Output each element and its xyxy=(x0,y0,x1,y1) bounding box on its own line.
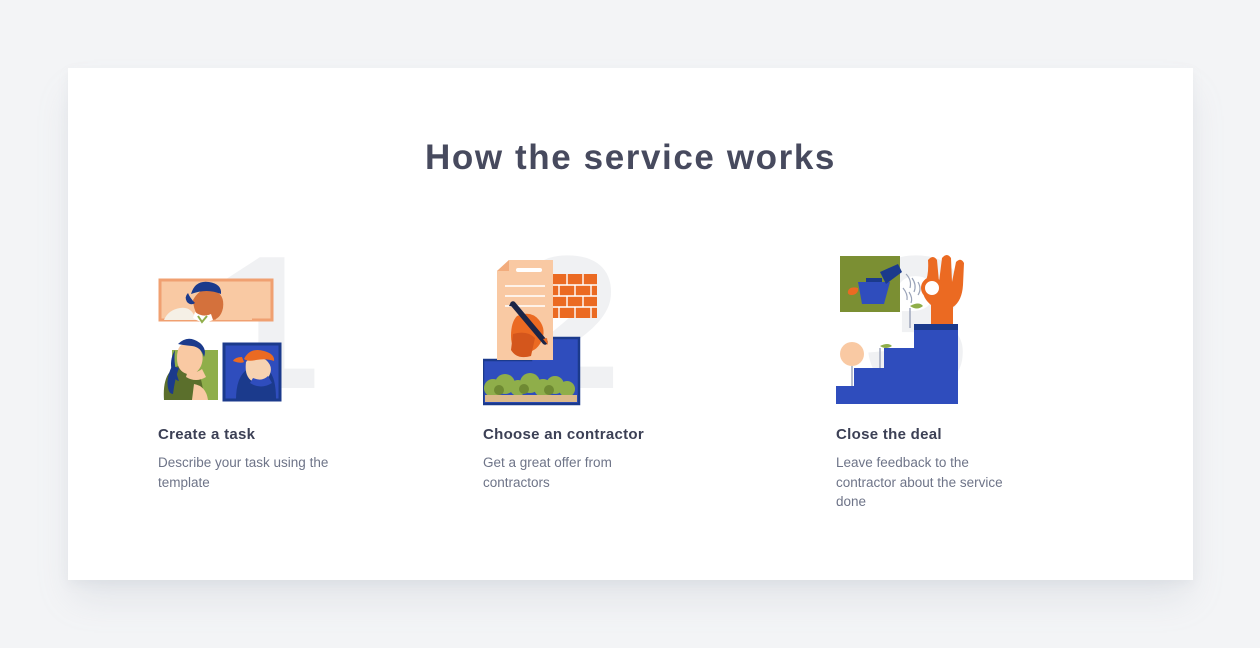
step-1-title: Create a task xyxy=(158,426,255,443)
page-root: How the service works 1 xyxy=(0,0,1260,648)
people-in-frames-illustration xyxy=(158,238,298,418)
step-item-2: 2 xyxy=(483,238,783,538)
step-1-artwork: 1 xyxy=(158,238,418,408)
page-title: How the service works xyxy=(68,138,1193,178)
step-3-artwork: 3 xyxy=(836,238,1096,408)
step-3-title: Close the deal xyxy=(836,426,942,443)
how-it-works-card: How the service works 1 xyxy=(68,68,1193,580)
step-3-description: Leave feedback to the contractor about t… xyxy=(836,453,1021,512)
step-item-3: 3 xyxy=(836,238,1136,538)
step-1-description: Describe your task using the template xyxy=(158,453,343,492)
step-2-title: Choose an contractor xyxy=(483,426,644,443)
step-item-1: 1 xyxy=(158,238,458,538)
stairs-watering-can-ok-hand-illustration xyxy=(836,238,976,418)
document-pen-bricks-illustration xyxy=(483,238,623,418)
step-2-description: Get a great offer from contractors xyxy=(483,453,668,492)
step-2-artwork: 2 xyxy=(483,238,743,408)
steps-container: 1 xyxy=(158,238,1103,538)
